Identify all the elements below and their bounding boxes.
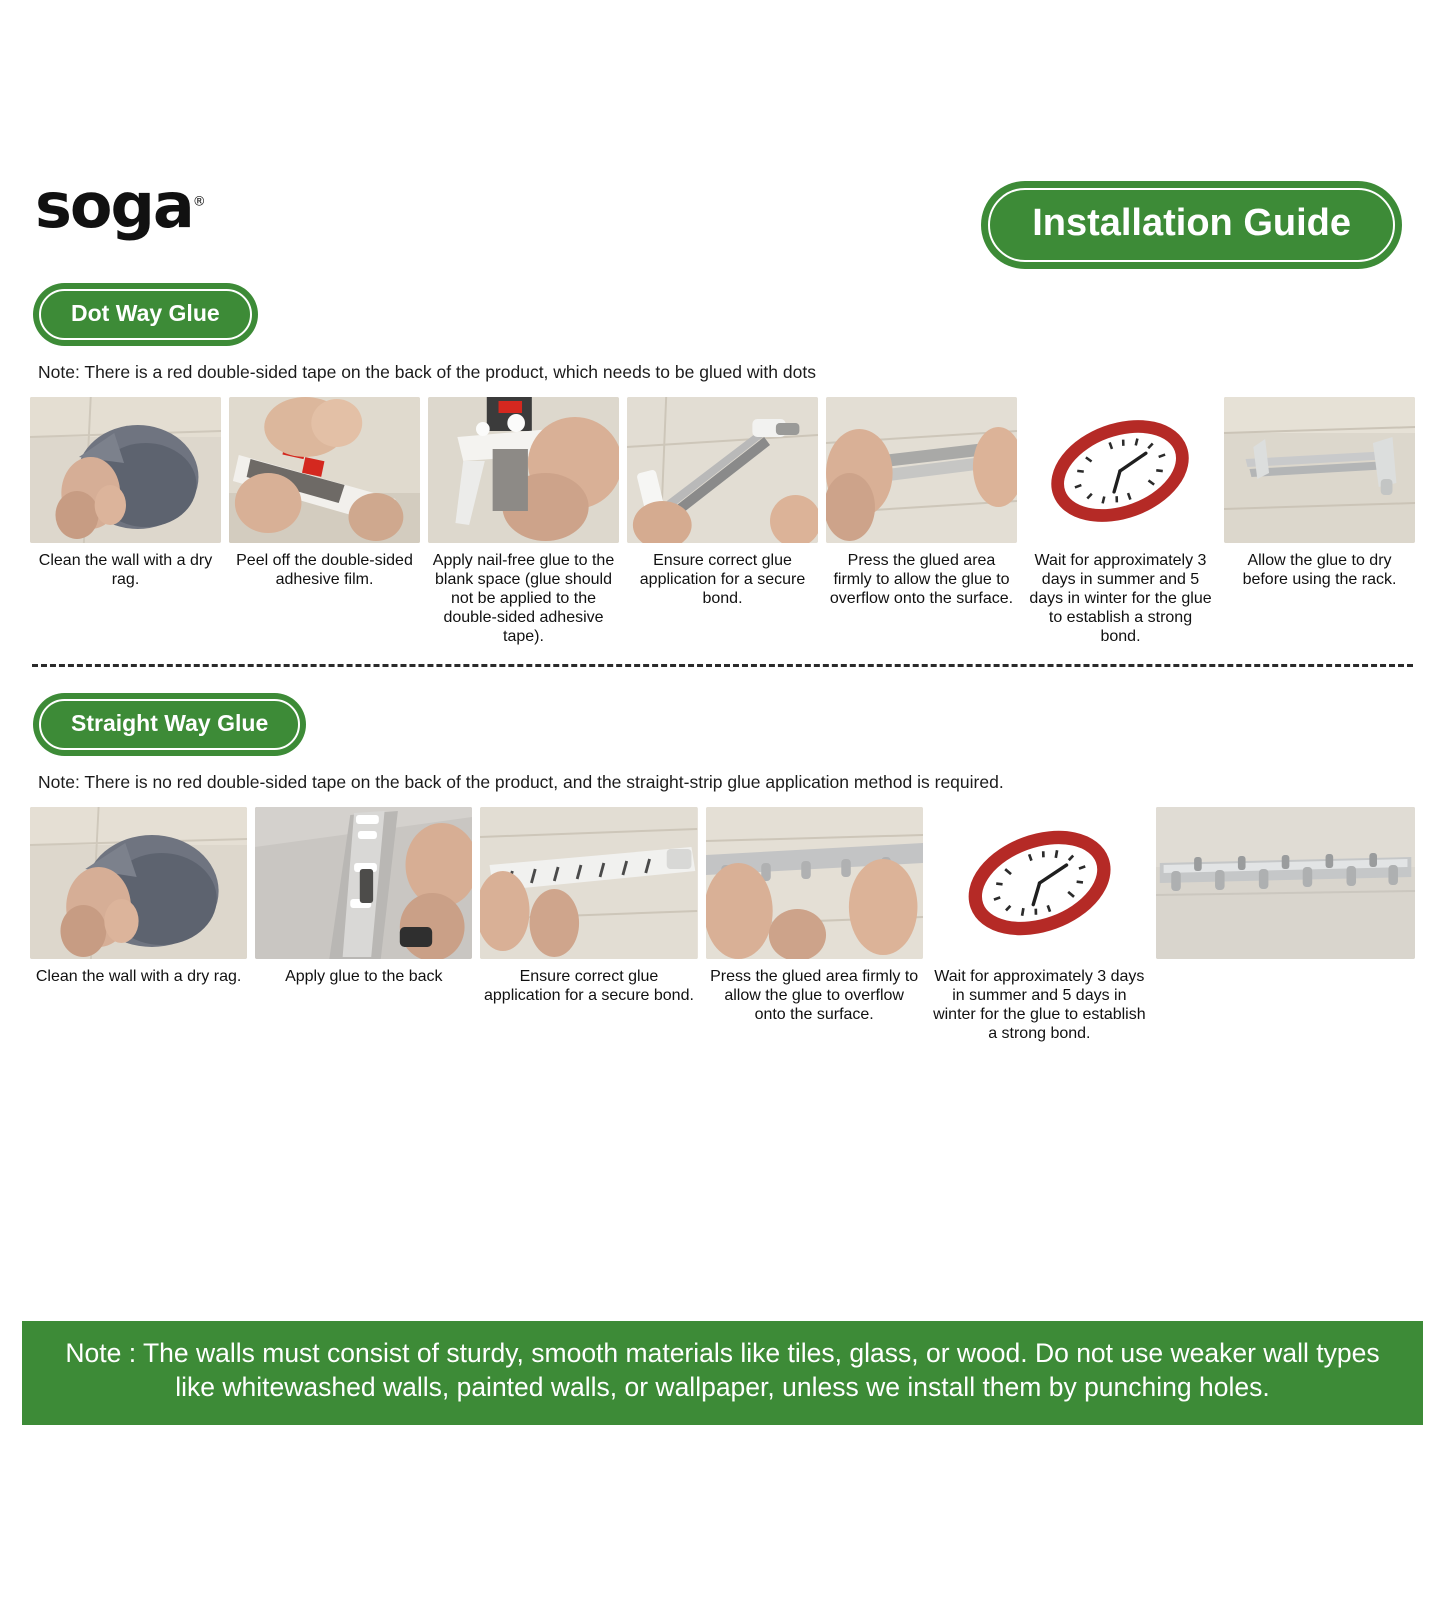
step-item: Wait for approximately 3 days in summer … (931, 807, 1148, 1044)
step-image-clean-wall (30, 397, 221, 543)
step-caption: Press the glued area firmly to allow the… (826, 552, 1017, 609)
step-image-press-firmly (706, 807, 923, 959)
step-caption: Peel off the double-sided adhesive film. (229, 552, 420, 590)
page-header: soga® Installation Guide (30, 175, 1415, 285)
step-image-apply-glue (428, 397, 619, 543)
section-note: Note: There is no red double-sided tape … (38, 772, 1415, 793)
step-image-wait-clock (931, 807, 1148, 959)
step-image-peel-tape (229, 397, 420, 543)
step-caption: Allow the glue to dry before using the r… (1224, 552, 1415, 590)
step-image-correct-application (627, 397, 818, 543)
soga-logo: soga® (35, 175, 206, 237)
installation-guide-page: soga® Installation Guide Dot Way Glue No… (0, 175, 1445, 1620)
section-note: Note: There is a red double-sided tape o… (38, 362, 1415, 383)
installation-guide-badge: Installation Guide (983, 183, 1400, 267)
section-title: Straight Way Glue (71, 712, 268, 735)
step-caption: Clean the wall with a dry rag. (30, 552, 221, 590)
step-image-apply-glue-back (255, 807, 472, 959)
step-image-finished-rack (1224, 397, 1415, 543)
step-caption: Ensure correct glue application for a se… (480, 968, 697, 1006)
step-row-dot-way-glue: Clean the wall with a dry rag. (30, 397, 1415, 646)
step-item (1156, 807, 1415, 968)
step-item: Press the glued area firmly to allow the… (706, 807, 923, 1025)
page-title: Installation Guide (1032, 204, 1351, 242)
step-image-correct-application (480, 807, 697, 959)
step-caption: Ensure correct glue application for a se… (627, 552, 818, 609)
step-item: Apply nail-free glue to the blank space … (428, 397, 619, 646)
section-dot-way-glue: Dot Way Glue Note: There is a red double… (30, 285, 1415, 667)
footer-note-text: Note : The walls must consist of sturdy,… (48, 1337, 1397, 1405)
step-item: Apply glue to the back (255, 807, 472, 987)
trademark-symbol: ® (193, 194, 206, 209)
step-caption: Wait for approximately 3 days in summer … (1025, 552, 1216, 646)
step-caption: Wait for approximately 3 days in summer … (931, 968, 1148, 1044)
step-row-straight-way-glue: Clean the wall with a dry rag. (30, 807, 1415, 1044)
installation-guide-badge-inner: Installation Guide (988, 188, 1395, 262)
section-title: Dot Way Glue (71, 302, 220, 325)
footer-note-banner: Note : The walls must consist of sturdy,… (22, 1321, 1423, 1425)
step-image-press-firmly (826, 397, 1017, 543)
section-badge-straight-way-glue: Straight Way Glue (35, 695, 304, 754)
step-image-finished-hook-rail (1156, 807, 1415, 959)
step-caption: Apply glue to the back (283, 968, 444, 987)
step-caption: Apply nail-free glue to the blank space … (428, 552, 619, 646)
step-item: Ensure correct glue application for a se… (627, 397, 818, 609)
step-caption: Press the glued area firmly to allow the… (706, 968, 923, 1025)
section-straight-way-glue: Straight Way Glue Note: There is no red … (30, 695, 1415, 1044)
step-caption: Clean the wall with a dry rag. (34, 968, 243, 987)
step-item: Clean the wall with a dry rag. (30, 807, 247, 987)
section-badge-inner: Straight Way Glue (39, 699, 300, 750)
step-item: Clean the wall with a dry rag. (30, 397, 221, 590)
step-image-clean-wall (30, 807, 247, 959)
step-item: Peel off the double-sided adhesive film. (229, 397, 420, 590)
section-badge-inner: Dot Way Glue (39, 289, 252, 340)
step-item: Wait for approximately 3 days in summer … (1025, 397, 1216, 646)
section-badge-dot-way-glue: Dot Way Glue (35, 285, 256, 344)
section-divider (32, 664, 1413, 667)
step-item: Press the glued area firmly to allow the… (826, 397, 1017, 609)
step-item: Allow the glue to dry before using the r… (1224, 397, 1415, 590)
step-image-wait-clock (1025, 397, 1216, 543)
logo-wordmark: soga (35, 169, 193, 242)
step-item: Ensure correct glue application for a se… (480, 807, 697, 1006)
